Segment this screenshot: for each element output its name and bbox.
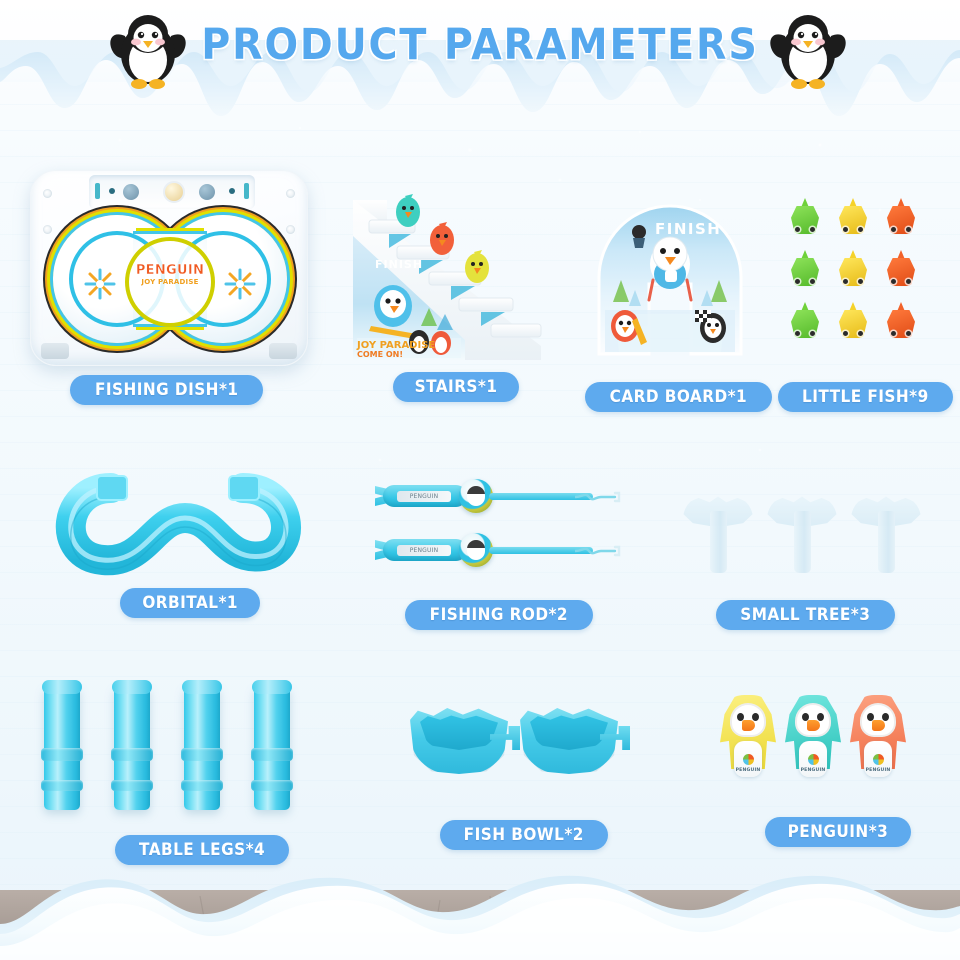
label-fish-bowl: FISH BOWL*2 bbox=[440, 820, 608, 850]
table-leg-item bbox=[250, 680, 294, 810]
fishing-rod-item: PENGUIN bbox=[375, 475, 625, 517]
penguin-figures-image: PENGUIN PENGUIN bbox=[720, 695, 910, 805]
dish-screw bbox=[43, 225, 52, 234]
table-legs-image bbox=[40, 680, 340, 820]
penguin-badge-text: PENGUIN bbox=[736, 768, 761, 773]
small-tree-image bbox=[683, 485, 923, 585]
little-fish-item bbox=[836, 302, 870, 340]
label-card-board: CARD BOARD*1 bbox=[585, 382, 772, 412]
stairs-structure: FINISH JOY PARADISE COME ON! bbox=[345, 188, 545, 366]
label-small-tree: SMALL TREE*3 bbox=[716, 600, 895, 630]
part-table-legs: TABLE LEGS*4 bbox=[40, 680, 340, 820]
dish-center-button bbox=[163, 181, 185, 203]
dish-foot-right bbox=[269, 343, 297, 359]
dish-dot-left bbox=[109, 188, 115, 194]
penguin-figure-item: PENGUIN bbox=[850, 695, 906, 787]
little-fish-item bbox=[884, 198, 918, 236]
dish-knob-left bbox=[123, 184, 139, 200]
fishing-rod-image: PENGUIN PENGUIN bbox=[375, 475, 625, 585]
little-fish-image bbox=[788, 198, 948, 348]
dish-screw bbox=[286, 189, 295, 198]
rod-penguin-emblem bbox=[459, 479, 493, 513]
card-board-finish-text: FINISH bbox=[655, 220, 721, 238]
part-card-board: FINISH CARD BOARD*1 bbox=[595, 202, 745, 357]
product-parameters-page: PRODUCT PARAMETERS bbox=[0, 0, 960, 960]
fishing-rod-item: PENGUIN bbox=[375, 529, 625, 571]
penguin-mascot-icon bbox=[765, 8, 851, 92]
rod-penguin-emblem bbox=[459, 533, 493, 567]
rod-brand-label: PENGUIN bbox=[397, 491, 451, 502]
little-fish-item bbox=[788, 250, 822, 288]
dish-screw bbox=[286, 225, 295, 234]
dish-screw bbox=[43, 189, 52, 198]
penguin-badge-dot bbox=[873, 754, 884, 765]
table-leg-item bbox=[110, 680, 154, 810]
little-fish-item bbox=[884, 302, 918, 340]
card-board-image: FINISH bbox=[595, 202, 745, 357]
dish-logo-line1: PENGUIN bbox=[130, 263, 210, 278]
small-tree-item bbox=[683, 485, 753, 575]
rod-hook-icon bbox=[575, 491, 621, 503]
stairs-panel-finish-text: FINISH bbox=[375, 258, 423, 271]
part-orbital: ORBITAL*1 bbox=[45, 470, 300, 590]
penguin-mascot-icon bbox=[105, 8, 191, 92]
little-fish-item bbox=[836, 250, 870, 288]
part-fishing-dish: PENGUIN JOY PARADISE FISHING DISH*1 bbox=[30, 170, 308, 366]
fish-bowl-item bbox=[410, 698, 520, 778]
dish-knob-right bbox=[199, 184, 215, 200]
part-penguin: PENGUIN PENGUIN bbox=[720, 695, 910, 805]
card-board-arch: FINISH bbox=[595, 202, 745, 360]
snow-mountains-decoration bbox=[0, 850, 960, 960]
label-fishing-rod: FISHING ROD*2 bbox=[405, 600, 593, 630]
penguin-badge-text: PENGUIN bbox=[801, 768, 826, 773]
fish-bowl-image bbox=[410, 698, 660, 808]
label-penguin: PENGUIN*3 bbox=[765, 817, 911, 847]
part-stairs: FINISH JOY PARADISE COME ON! STAIRS*1 bbox=[345, 188, 545, 368]
little-fish-item bbox=[884, 250, 918, 288]
small-tree-item bbox=[851, 485, 921, 575]
small-tree-item bbox=[767, 485, 837, 575]
part-little-fish: LITTLE FISH*9 bbox=[788, 198, 948, 348]
product-parts-grid: PENGUIN JOY PARADISE FISHING DISH*1 bbox=[0, 150, 960, 890]
dish-dot-right bbox=[229, 188, 235, 194]
little-fish-item bbox=[788, 198, 822, 236]
page-footer bbox=[0, 850, 960, 960]
penguin-badge-text: PENGUIN bbox=[866, 768, 891, 773]
rod-brand-label: PENGUIN bbox=[397, 545, 451, 556]
penguin-figure-item: PENGUIN bbox=[720, 695, 776, 787]
part-small-tree: SMALL TREE*3 bbox=[683, 485, 923, 585]
dish-control-panel bbox=[89, 175, 255, 209]
penguin-badge-dot bbox=[743, 754, 754, 765]
label-little-fish: LITTLE FISH*9 bbox=[778, 382, 953, 412]
table-leg-item bbox=[180, 680, 224, 810]
little-fish-item bbox=[836, 198, 870, 236]
dish-slot-left bbox=[95, 183, 100, 199]
label-stairs: STAIRS*1 bbox=[393, 372, 519, 402]
orbital-image bbox=[45, 470, 300, 590]
part-fish-bowl: FISH BOWL*2 bbox=[410, 698, 660, 808]
dish-foot-left bbox=[41, 343, 69, 359]
snowflake-icon bbox=[223, 267, 257, 301]
fish-bowl-item bbox=[520, 698, 630, 778]
page-header: PRODUCT PARAMETERS bbox=[0, 0, 960, 150]
label-fishing-dish: FISHING DISH*1 bbox=[70, 375, 263, 405]
fishing-dish-image: PENGUIN JOY PARADISE bbox=[30, 170, 308, 366]
little-fish-item bbox=[788, 302, 822, 340]
orbital-track bbox=[45, 470, 303, 580]
table-leg-item bbox=[40, 680, 84, 810]
dish-basin: PENGUIN JOY PARADISE bbox=[53, 215, 287, 343]
dish-logo-line2: JOY PARADISE bbox=[130, 278, 210, 286]
penguin-figure-item: PENGUIN bbox=[785, 695, 841, 787]
penguin-badge-dot bbox=[808, 754, 819, 765]
rod-hook-icon bbox=[575, 545, 621, 557]
stairs-panel-come-text: COME ON! bbox=[357, 350, 403, 359]
part-fishing-rod: PENGUIN PENGUIN bbox=[375, 475, 625, 585]
label-orbital: ORBITAL*1 bbox=[120, 588, 260, 618]
dish-slot-right bbox=[244, 183, 249, 199]
stairs-image: FINISH JOY PARADISE COME ON! bbox=[345, 188, 545, 368]
snowflake-icon bbox=[83, 267, 117, 301]
dish-brand-logo: PENGUIN JOY PARADISE bbox=[130, 263, 210, 286]
